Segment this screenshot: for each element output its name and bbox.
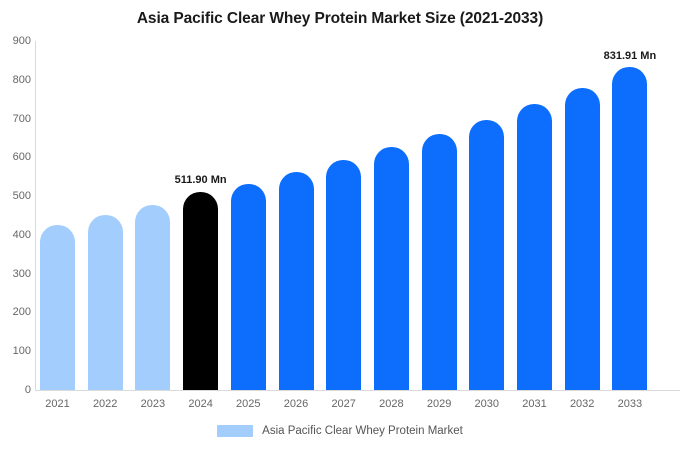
value-annotations-layer: 511.90 Mn831.91 Mn <box>36 41 680 390</box>
y-axis-tick-300: 300 <box>1 268 31 280</box>
y-axis-tick-700: 700 <box>1 113 31 125</box>
x-axis-tick-2033: 2033 <box>612 398 647 410</box>
value-label-2024: 511.90 Mn <box>171 174 231 186</box>
x-axis-tick-2031: 2031 <box>517 398 552 410</box>
x-axis-tick-2025: 2025 <box>231 398 266 410</box>
chart-legend: Asia Pacific Clear Whey Protein Market <box>0 425 680 437</box>
x-axis-tick-2026: 2026 <box>279 398 314 410</box>
y-axis-tick-400: 400 <box>1 229 31 241</box>
x-axis-tick-2024: 2024 <box>183 398 218 410</box>
legend-label-asia-pacific-clear-whey-protein-market: Asia Pacific Clear Whey Protein Market <box>262 425 463 437</box>
legend-swatch-asia-pacific-clear-whey-protein-market <box>217 425 253 437</box>
value-label-2033: 831.91 Mn <box>600 50 660 62</box>
y-axis-tick-800: 800 <box>1 74 31 86</box>
bar-chart: Asia Pacific Clear Whey Protein Market S… <box>0 0 680 450</box>
y-axis-tick-labels: 9008007006005004003002001000 <box>0 0 31 450</box>
y-axis-tick-600: 600 <box>1 151 31 163</box>
x-axis-tick-2021: 2021 <box>40 398 75 410</box>
x-axis-tick-2022: 2022 <box>88 398 123 410</box>
x-axis-tick-2029: 2029 <box>422 398 457 410</box>
y-axis-tick-500: 500 <box>1 190 31 202</box>
x-axis-tick-2027: 2027 <box>326 398 361 410</box>
x-axis-tick-2032: 2032 <box>565 398 600 410</box>
y-axis-tick-0: 0 <box>1 384 31 396</box>
x-axis-tick-2028: 2028 <box>374 398 409 410</box>
x-axis-tick-2030: 2030 <box>469 398 504 410</box>
y-axis-tick-100: 100 <box>1 345 31 357</box>
y-axis-tick-200: 200 <box>1 306 31 318</box>
x-axis-tick-2023: 2023 <box>135 398 170 410</box>
y-axis-tick-900: 900 <box>1 35 31 47</box>
